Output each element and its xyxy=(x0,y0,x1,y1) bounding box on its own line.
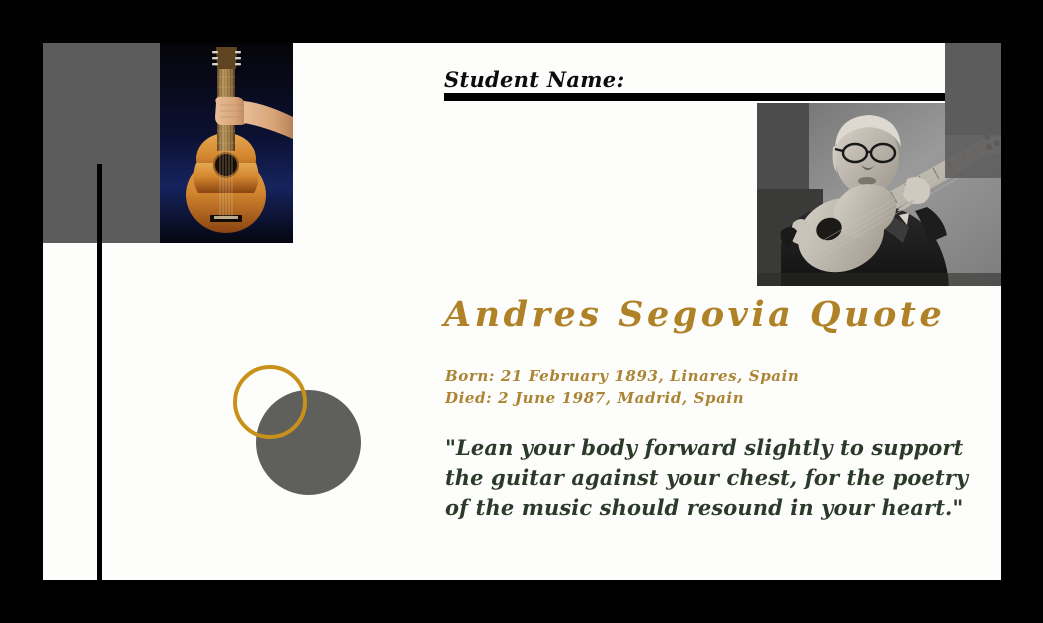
student-name-label: Student Name: xyxy=(444,67,625,92)
page-title: Andres Segovia Quote xyxy=(444,294,945,335)
student-name-underline xyxy=(444,93,1001,101)
life-dates: Born: 21 February 1893, Linares, Spain D… xyxy=(445,365,799,409)
decorative-gold-ring-circle xyxy=(233,365,307,439)
died-line: Died: 2 June 1987, Madrid, Spain xyxy=(445,387,799,409)
born-line: Born: 21 February 1893, Linares, Spain xyxy=(445,365,799,387)
decorative-vertical-rule xyxy=(97,164,102,580)
guitar-photo xyxy=(160,43,293,243)
presentation-slide: Student Name: xyxy=(43,43,1001,580)
slide-canvas: Student Name: xyxy=(0,0,1043,623)
decorative-gray-block-right-lower xyxy=(945,113,1001,178)
quote-text: "Lean your body forward slightly to supp… xyxy=(445,433,970,523)
